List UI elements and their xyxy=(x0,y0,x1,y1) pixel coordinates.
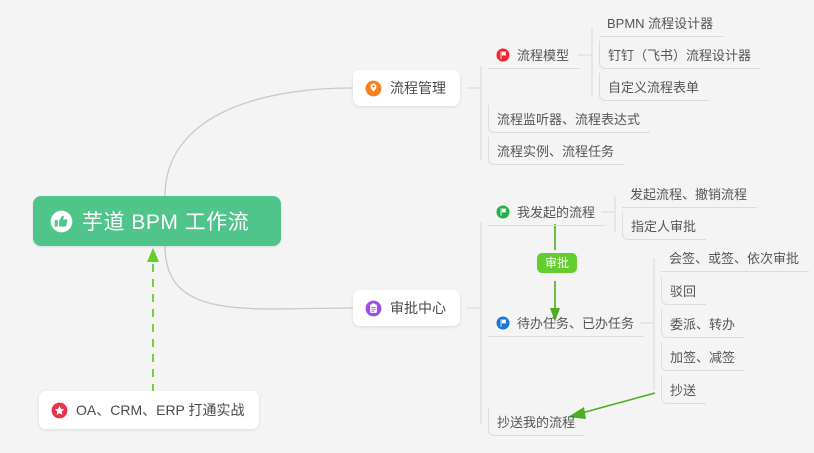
node-label: 流程实例、流程任务 xyxy=(497,141,614,160)
mindmap-canvas: 芋道 BPM 工作流 流程管理 流程模型 BPMN 流程设计器 钉钉（飞书）流程… xyxy=(0,0,814,453)
thumbs-up-icon xyxy=(50,210,73,233)
node-add-remove-sign[interactable]: 加签、减签 xyxy=(661,343,745,371)
node-label: 流程监听器、流程表达式 xyxy=(497,109,640,128)
footnote-label: OA、CRM、ERP 打通实战 xyxy=(76,400,245,420)
node-label: 指定人审批 xyxy=(631,216,696,235)
star-icon xyxy=(51,402,68,419)
node-cc[interactable]: 抄送 xyxy=(661,376,706,404)
flag-icon xyxy=(496,205,510,219)
node-assignee-approval[interactable]: 指定人审批 xyxy=(622,212,706,240)
annotation-label: 审批 xyxy=(545,256,569,270)
node-bpmn-designer[interactable]: BPMN 流程设计器 xyxy=(599,9,723,37)
flag-icon xyxy=(496,48,510,62)
branch-node-liucheng-guanli[interactable]: 流程管理 xyxy=(353,70,460,106)
node-label: 待办任务、已办任务 xyxy=(517,313,634,332)
node-todo-done-task[interactable]: 待办任务、已办任务 xyxy=(488,309,644,337)
node-my-started-process[interactable]: 我发起的流程 xyxy=(488,198,605,226)
node-label: 驳回 xyxy=(670,281,696,300)
node-label: BPMN 流程设计器 xyxy=(607,13,713,32)
root-node[interactable]: 芋道 BPM 工作流 xyxy=(33,196,281,246)
node-label: 自定义流程表单 xyxy=(608,77,699,96)
node-custom-process-form[interactable]: 自定义流程表单 xyxy=(599,73,709,101)
branch-label: 流程管理 xyxy=(390,78,446,98)
node-label: 我发起的流程 xyxy=(517,202,595,221)
node-label: 钉钉（飞书）流程设计器 xyxy=(608,45,751,64)
node-label: 流程模型 xyxy=(517,45,569,64)
annotation-chip-shenpi: 审批 xyxy=(537,253,577,273)
node-listener-expression[interactable]: 流程监听器、流程表达式 xyxy=(488,105,650,133)
root-label: 芋道 BPM 工作流 xyxy=(82,206,249,236)
node-counter-or-sequential[interactable]: 会签、或签、依次审批 xyxy=(661,244,809,272)
branch-node-shenpi-zhongxin[interactable]: 审批中心 xyxy=(353,290,460,326)
branch-label: 审批中心 xyxy=(390,298,446,318)
node-start-cancel-process[interactable]: 发起流程、撤销流程 xyxy=(622,180,757,208)
flag-icon xyxy=(496,316,510,330)
node-delegate-transfer[interactable]: 委派、转办 xyxy=(661,310,745,338)
clipboard-icon xyxy=(365,300,382,317)
node-dingding-feishu-designer[interactable]: 钉钉（飞书）流程设计器 xyxy=(599,41,761,69)
footnote-node-oa-crm-erp[interactable]: OA、CRM、ERP 打通实战 xyxy=(39,391,259,429)
node-label: 委派、转办 xyxy=(670,314,735,333)
node-label: 会签、或签、依次审批 xyxy=(669,248,799,267)
node-cc-my-process[interactable]: 抄送我的流程 xyxy=(488,408,585,436)
node-label: 抄送 xyxy=(670,380,696,399)
node-label: 发起流程、撤销流程 xyxy=(630,184,747,203)
node-label: 加签、减签 xyxy=(670,347,735,366)
node-label: 抄送我的流程 xyxy=(497,412,575,431)
node-liucheng-moxing[interactable]: 流程模型 xyxy=(488,41,579,69)
node-instance-task[interactable]: 流程实例、流程任务 xyxy=(488,137,624,165)
location-pin-icon xyxy=(365,80,382,97)
node-reject[interactable]: 驳回 xyxy=(661,277,706,305)
